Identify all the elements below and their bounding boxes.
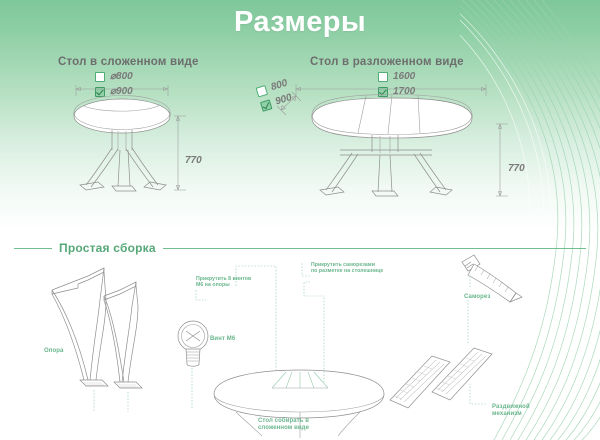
dimension-height-folded: 770 — [185, 155, 202, 166]
option-row[interactable]: ⌀900 — [95, 85, 133, 98]
page-title: Размеры — [0, 6, 600, 39]
option-row[interactable]: 1700 — [378, 85, 415, 98]
part-label-slide-mechanism: Раздвижной механизм — [492, 404, 530, 418]
assembly-section-title: Простая сборка — [59, 241, 156, 255]
divider-line-right — [163, 248, 586, 249]
part-label-opora: Опора — [44, 348, 63, 355]
note-attach-selftapping: Прикрутить саморезами по разметке на сто… — [311, 262, 383, 275]
checkbox-checked[interactable] — [95, 87, 105, 97]
assembly-divider: Простая сборка — [14, 240, 586, 256]
checkbox-unchecked[interactable] — [378, 72, 388, 82]
checkbox-checked[interactable] — [378, 87, 388, 97]
part-label-samorez: Саморез — [464, 294, 490, 301]
checkbox-unchecked[interactable] — [95, 72, 105, 82]
note-assemble-folded: Стол собирать в сложенном виде — [258, 418, 309, 432]
section-header-unfolded: Стол в разложенном виде — [310, 56, 464, 68]
folded-diameter-options: ⌀800 ⌀900 — [95, 70, 133, 100]
option-label: ⌀900 — [110, 87, 133, 97]
option-label: 1700 — [393, 87, 415, 97]
checkbox-unchecked[interactable] — [255, 85, 267, 97]
note-attach-screws: Прикрутить 8 винтов М6 на опоры — [196, 276, 251, 289]
unfolded-length-options: 1600 1700 — [378, 70, 415, 100]
poster-sheet: Размеры Стол в сложенном виде Стол в раз… — [0, 0, 600, 440]
section-header-folded: Стол в сложенном виде — [58, 56, 199, 68]
option-label: 800 — [270, 78, 289, 92]
option-label: 1600 — [393, 72, 415, 82]
dimension-height-unfolded: 770 — [508, 163, 525, 174]
divider-line-left — [14, 248, 52, 249]
option-label: 900 — [274, 93, 293, 107]
part-label-vint-m6: Винт М6 — [210, 336, 235, 343]
option-row[interactable]: 1600 — [378, 70, 415, 83]
option-row[interactable]: ⌀800 — [95, 70, 133, 83]
checkbox-checked[interactable] — [260, 99, 272, 111]
option-label: ⌀800 — [110, 72, 133, 82]
